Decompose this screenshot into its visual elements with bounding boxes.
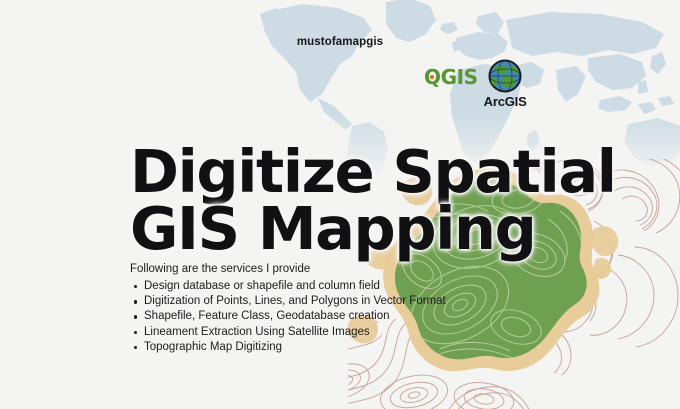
arcgis-globe-icon — [487, 58, 523, 94]
services-block: Following are the services I provide Des… — [130, 262, 446, 355]
list-item-label: Lineament Extraction Using Satellite Ima… — [144, 326, 370, 338]
arcgis-logo: ArcGIS — [484, 58, 527, 108]
bullet-icon — [134, 300, 137, 303]
bullet-icon — [134, 285, 137, 288]
bullet-icon — [134, 315, 137, 318]
qgis-q-dot-icon — [430, 75, 435, 80]
list-item: Lineament Extraction Using Satellite Ima… — [144, 325, 446, 340]
list-item: Shapefile, Feature Class, Geodatabase cr… — [144, 309, 446, 324]
list-item: Topographic Map Digitizing — [144, 340, 446, 355]
services-list: Design database or shapefile and column … — [130, 279, 446, 355]
page-title-line-2: GIS Mapping — [130, 200, 616, 258]
list-item-label: Digitization of Points, Lines, and Polyg… — [144, 295, 446, 307]
bullet-icon — [134, 346, 137, 349]
qgis-logo: QGIS — [424, 67, 478, 87]
list-item: Design database or shapefile and column … — [144, 279, 446, 294]
arcgis-logo-label: ArcGIS — [484, 95, 527, 108]
brand-handle: mustofamapgis — [0, 36, 680, 48]
list-item-label: Design database or shapefile and column … — [144, 280, 380, 292]
list-item: Digitization of Points, Lines, and Polyg… — [144, 294, 446, 309]
logo-cluster: QGIS ArcGIS — [424, 58, 527, 108]
list-item-label: Shapefile, Feature Class, Geodatabase cr… — [144, 310, 389, 322]
poster-canvas: mustofamapgis QGIS ArcG — [0, 0, 680, 409]
services-intro: Following are the services I provide — [130, 262, 446, 277]
bullet-icon — [134, 331, 137, 334]
page-title: Digitize Spatial GIS Mapping — [130, 143, 616, 259]
page-title-line-1: Digitize Spatial — [130, 143, 616, 201]
list-item-label: Topographic Map Digitizing — [144, 341, 282, 353]
